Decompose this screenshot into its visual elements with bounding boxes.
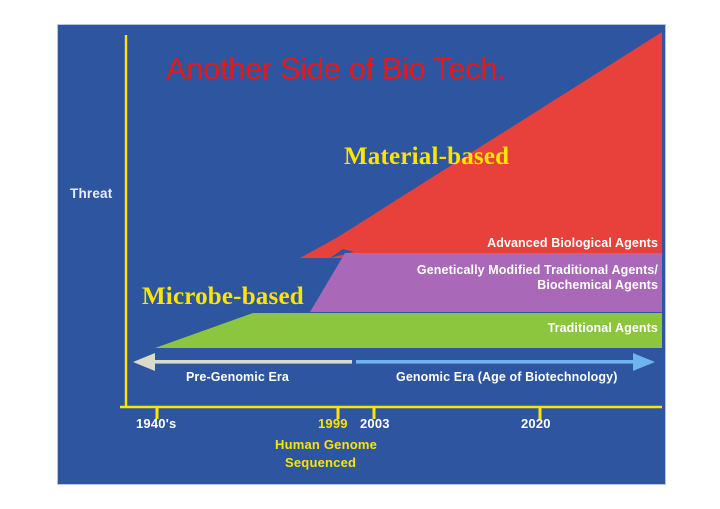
band-label-gm-line2: Biochemical Agents xyxy=(417,278,658,293)
era-label-genomic: Genomic Era (Age of Biotechnology) xyxy=(396,370,617,384)
slide-canvas: Another Side of Bio Tech. Threat Materia… xyxy=(0,0,720,509)
annotation-human-genome-line1: Human Genome xyxy=(275,437,377,452)
band-label-traditional-agents: Traditional Agents xyxy=(548,321,658,336)
x-tick-label-1999: 1999 xyxy=(318,416,348,431)
band-label-gm-line1: Genetically Modified Traditional Agents/ xyxy=(417,263,658,278)
band-label-advanced-biological-agents: Advanced Biological Agents xyxy=(487,236,658,251)
annotation-material-based: Material-based xyxy=(344,143,509,171)
x-tick-label-2003: 2003 xyxy=(360,416,390,431)
band-label-genetically-modified-agents: Genetically Modified Traditional Agents/… xyxy=(417,263,658,293)
era-label-pre-genomic: Pre-Genomic Era xyxy=(186,370,289,384)
x-tick-label-1940: 1940's xyxy=(136,416,176,431)
annotation-microbe-based: Microbe-based xyxy=(142,283,304,311)
annotation-human-genome-line2: Sequenced xyxy=(285,455,356,470)
y-axis-label: Threat xyxy=(70,186,112,201)
x-tick-label-2020: 2020 xyxy=(521,416,551,431)
slide-title: Another Side of Bio Tech. xyxy=(166,51,505,87)
